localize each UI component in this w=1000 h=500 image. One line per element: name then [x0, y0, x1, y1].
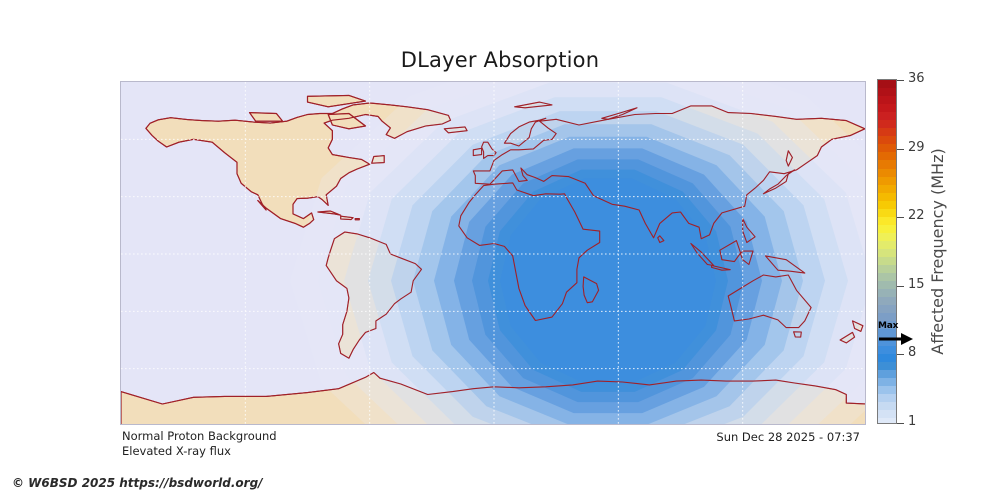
- colorbar-segment: [878, 185, 896, 193]
- colorbar-segment: [878, 281, 896, 289]
- colorbar-axis-label: Affected Frequency (MHz): [928, 79, 948, 424]
- colorbar-segment: [878, 152, 896, 160]
- colorbar-segment: [878, 338, 896, 346]
- page-title: DLayer Absorption: [0, 48, 1000, 72]
- colorbar-segment: [878, 120, 896, 128]
- colorbar-segment: [878, 112, 896, 120]
- copyright-notice: © W6BSD 2025 https://bsdworld.org/: [12, 476, 263, 490]
- colorbar-segment: [878, 394, 896, 402]
- colorbar-segment: [878, 104, 896, 112]
- colorbar-segment: [878, 378, 896, 386]
- colorbar-segment: [878, 370, 896, 378]
- colorbar-segment: [878, 128, 896, 136]
- colorbar-segment: [878, 289, 896, 297]
- colorbar[interactable]: [877, 79, 897, 424]
- timestamp: Sun Dec 28 2025 - 07:37: [0, 430, 866, 444]
- absorption-contour-band: [500, 178, 716, 383]
- colorbar-segment: [878, 402, 896, 410]
- colorbar-segment: [878, 80, 896, 88]
- colorbar-segment: [878, 144, 896, 152]
- colorbar-segment: [878, 273, 896, 281]
- colorbar-segment: [878, 418, 896, 424]
- colorbar-segment: [878, 160, 896, 168]
- colorbar-segment: [878, 346, 896, 354]
- colorbar-segment: [878, 177, 896, 185]
- colorbar-segment: [878, 257, 896, 265]
- map-canvas[interactable]: [120, 81, 866, 425]
- colorbar-segment: [878, 193, 896, 201]
- colorbar-segment: [878, 321, 896, 329]
- colorbar-segment: [878, 233, 896, 241]
- figure-root: DLayer Absorption 3629221581 Affected Fr…: [0, 0, 1000, 500]
- colorbar-segment: [878, 362, 896, 370]
- colorbar-segment: [878, 386, 896, 394]
- colorbar-segment: [878, 88, 896, 96]
- colorbar-segment: [878, 169, 896, 177]
- world-map-svg: [121, 82, 866, 425]
- colorbar-segment: [878, 313, 896, 321]
- colorbar-segment: [878, 209, 896, 217]
- note-xray-flux: Elevated X-ray flux: [122, 444, 231, 459]
- colorbar-segment: [878, 96, 896, 104]
- colorbar-segment: [878, 225, 896, 233]
- colorbar-segment: [878, 201, 896, 209]
- colorbar-segment: [878, 241, 896, 249]
- colorbar-segment: [878, 136, 896, 144]
- colorbar-segment: [878, 249, 896, 257]
- colorbar-segment: [878, 410, 896, 418]
- colorbar-segment: [878, 265, 896, 273]
- colorbar-segment: [878, 305, 896, 313]
- colorbar-segment: [878, 354, 896, 362]
- colorbar-segment: [878, 329, 896, 337]
- colorbar-segment: [878, 217, 896, 225]
- colorbar-segment: [878, 297, 896, 305]
